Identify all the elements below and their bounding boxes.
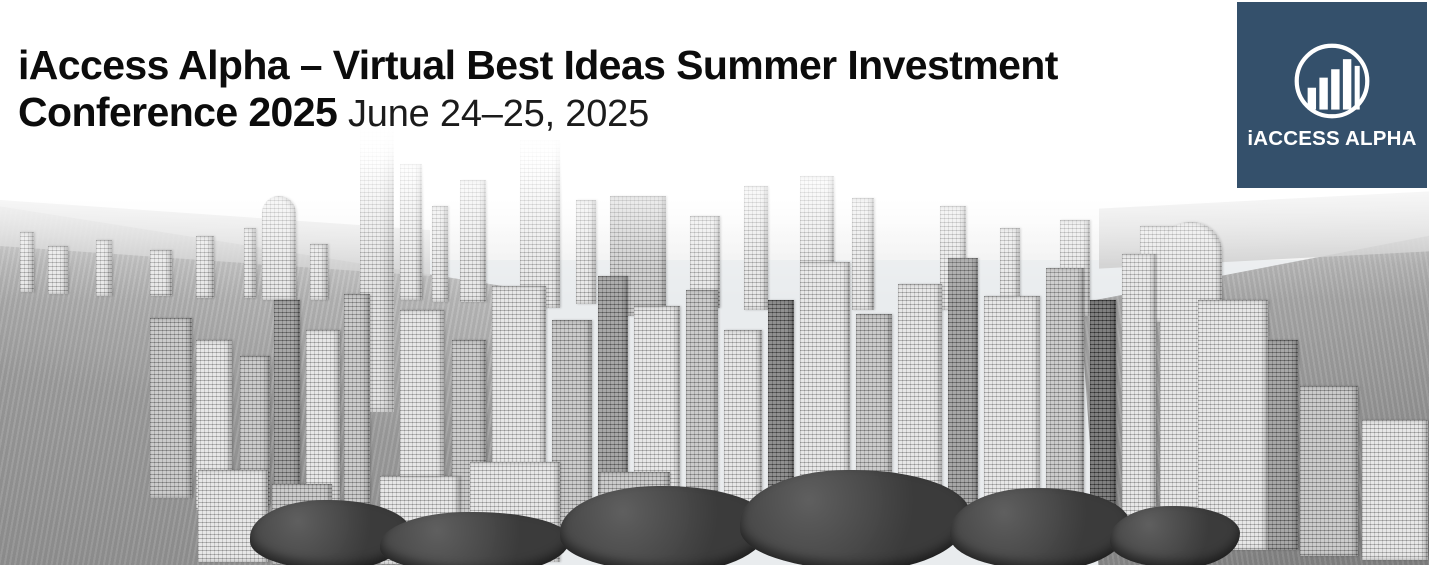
page-title: iAccess Alpha – Virtual Best Ideas Summe… — [18, 42, 1198, 138]
building — [744, 186, 768, 310]
building — [150, 318, 192, 498]
building — [400, 164, 422, 300]
building — [96, 240, 112, 296]
park-trees — [740, 470, 970, 565]
building — [48, 246, 68, 294]
conference-date: June 24–25, 2025 — [348, 93, 649, 135]
building — [432, 206, 448, 302]
iaccess-alpha-logo[interactable]: iACCESS ALPHA — [1237, 2, 1427, 188]
building — [1122, 254, 1156, 532]
building — [460, 180, 486, 302]
building — [244, 228, 256, 298]
building — [274, 300, 300, 510]
bar-chart-in-circle-icon — [1290, 39, 1374, 123]
building — [344, 294, 370, 520]
building — [310, 244, 328, 300]
building — [262, 196, 296, 300]
building — [150, 250, 172, 296]
logo-wordmark: iACCESS ALPHA — [1247, 127, 1416, 151]
building — [520, 140, 560, 308]
building — [20, 232, 34, 292]
park-trees — [560, 486, 770, 565]
building — [1268, 340, 1298, 550]
park-trees — [950, 488, 1130, 565]
park-trees — [380, 512, 570, 565]
building — [196, 236, 214, 298]
building — [1300, 386, 1358, 556]
building — [576, 200, 596, 304]
building — [852, 198, 874, 310]
conference-banner: iAccess Alpha – Virtual Best Ideas Summe… — [0, 0, 1429, 565]
building — [1362, 420, 1428, 560]
park-trees — [1110, 506, 1240, 565]
